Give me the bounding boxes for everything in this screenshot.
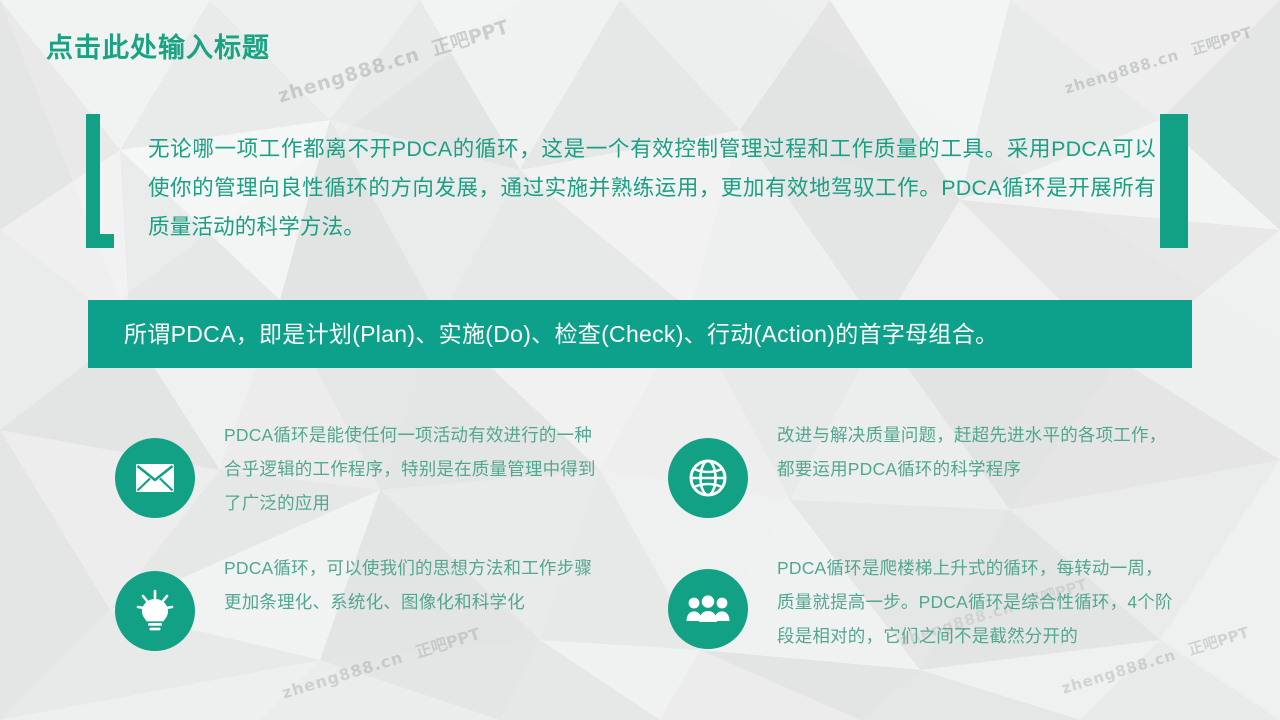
feature-icon-circle bbox=[115, 571, 195, 651]
intro-paragraph: 无论哪一项工作都离不开PDCA的循环，这是一个有效控制管理过程和工作质量的工具。… bbox=[148, 130, 1156, 247]
quote-bracket-right-icon bbox=[1160, 114, 1188, 248]
feature-item[interactable]: PDCA循环是爬楼梯上升式的循环，每转动一周，质量就提高一步。PDCA循环是综合… bbox=[668, 551, 1188, 653]
feature-icon-circle bbox=[668, 569, 748, 649]
page-title: 点击此处输入标题 bbox=[46, 32, 270, 64]
globe-icon bbox=[689, 459, 727, 497]
lightbulb-icon bbox=[135, 589, 175, 633]
quote-bracket-left-icon bbox=[86, 114, 114, 248]
slide-canvas: zheng888.cn正吧PPT zheng888.cn正吧PPT zheng8… bbox=[0, 0, 1280, 720]
people-group-icon bbox=[686, 595, 730, 623]
feature-item[interactable]: PDCA循环是能使任何一项活动有效进行的一种合乎逻辑的工作程序，特别是在质量管理… bbox=[115, 418, 625, 520]
feature-item[interactable]: PDCA循环，可以使我们的思想方法和工作步骤更加条理化、系统化、图像化和科学化 bbox=[115, 551, 625, 651]
feature-text: 改进与解决质量问题，赶超先进水平的各项工作，都要运用PDCA循环的科学程序 bbox=[777, 418, 1175, 486]
feature-text: PDCA循环是能使任何一项活动有效进行的一种合乎逻辑的工作程序，特别是在质量管理… bbox=[224, 418, 609, 520]
envelope-icon bbox=[135, 463, 175, 493]
feature-item[interactable]: 改进与解决质量问题，赶超先进水平的各项工作，都要运用PDCA循环的科学程序 bbox=[668, 418, 1188, 518]
banner-text: 所谓PDCA，即是计划(Plan)、实施(Do)、检查(Check)、行动(Ac… bbox=[124, 300, 998, 368]
feature-text: PDCA循环，可以使我们的思想方法和工作步骤更加条理化、系统化、图像化和科学化 bbox=[224, 551, 609, 619]
feature-icon-circle bbox=[115, 438, 195, 518]
feature-icon-circle bbox=[668, 438, 748, 518]
pdca-definition-banner: 所谓PDCA，即是计划(Plan)、实施(Do)、检查(Check)、行动(Ac… bbox=[88, 300, 1192, 368]
feature-text: PDCA循环是爬楼梯上升式的循环，每转动一周，质量就提高一步。PDCA循环是综合… bbox=[777, 551, 1175, 653]
